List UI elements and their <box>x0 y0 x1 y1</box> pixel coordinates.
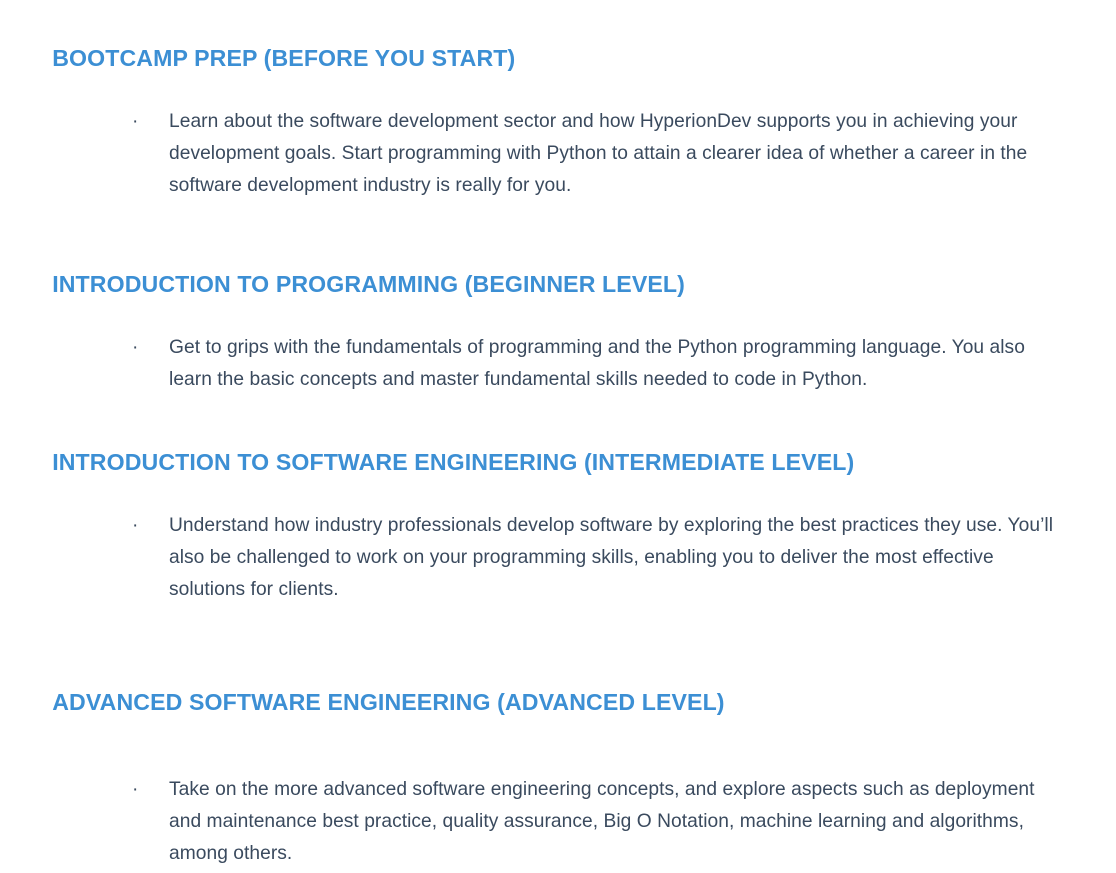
bullet-dot-icon: · <box>132 106 142 138</box>
bullet-dot-icon: · <box>132 510 142 542</box>
curriculum-outline: BOOTCAMP PREP (BEFORE YOU START) · Learn… <box>0 0 1116 870</box>
section-bullet-list: · Learn about the software development s… <box>0 106 1116 202</box>
list-item-text: Understand how industry professionals de… <box>169 510 1056 606</box>
bullet-dot-icon: · <box>132 774 142 806</box>
list-item: · Learn about the software development s… <box>0 106 1116 202</box>
list-item-text: Learn about the software development sec… <box>169 106 1056 202</box>
section-bullet-list: · Understand how industry professionals … <box>0 510 1116 606</box>
bullet-dot-icon: · <box>132 332 142 364</box>
section-bullet-list: · Take on the more advanced software eng… <box>0 774 1116 870</box>
list-item: · Get to grips with the fundamentals of … <box>0 332 1116 396</box>
section-bullet-list: · Get to grips with the fundamentals of … <box>0 332 1116 396</box>
curriculum-section-advanced-software-engineering: ADVANCED SOFTWARE ENGINEERING (ADVANCED … <box>0 606 1116 870</box>
section-heading: INTRODUCTION TO PROGRAMMING (BEGINNER LE… <box>0 271 1099 298</box>
section-heading: ADVANCED SOFTWARE ENGINEERING (ADVANCED … <box>0 689 1099 716</box>
list-item: · Understand how industry professionals … <box>0 510 1116 606</box>
page-root: BOOTCAMP PREP (BEFORE YOU START) · Learn… <box>0 0 1116 873</box>
section-heading: BOOTCAMP PREP (BEFORE YOU START) <box>0 45 1099 72</box>
section-heading: INTRODUCTION TO SOFTWARE ENGINEERING (IN… <box>0 449 1099 476</box>
curriculum-section-bootcamp-prep: BOOTCAMP PREP (BEFORE YOU START) · Learn… <box>0 0 1116 202</box>
list-item: · Take on the more advanced software eng… <box>0 774 1116 870</box>
curriculum-section-introduction-to-software-engineering: INTRODUCTION TO SOFTWARE ENGINEERING (IN… <box>0 396 1116 606</box>
curriculum-section-introduction-to-programming: INTRODUCTION TO PROGRAMMING (BEGINNER LE… <box>0 202 1116 396</box>
list-item-text: Get to grips with the fundamentals of pr… <box>169 332 1056 396</box>
list-item-text: Take on the more advanced software engin… <box>169 774 1056 870</box>
